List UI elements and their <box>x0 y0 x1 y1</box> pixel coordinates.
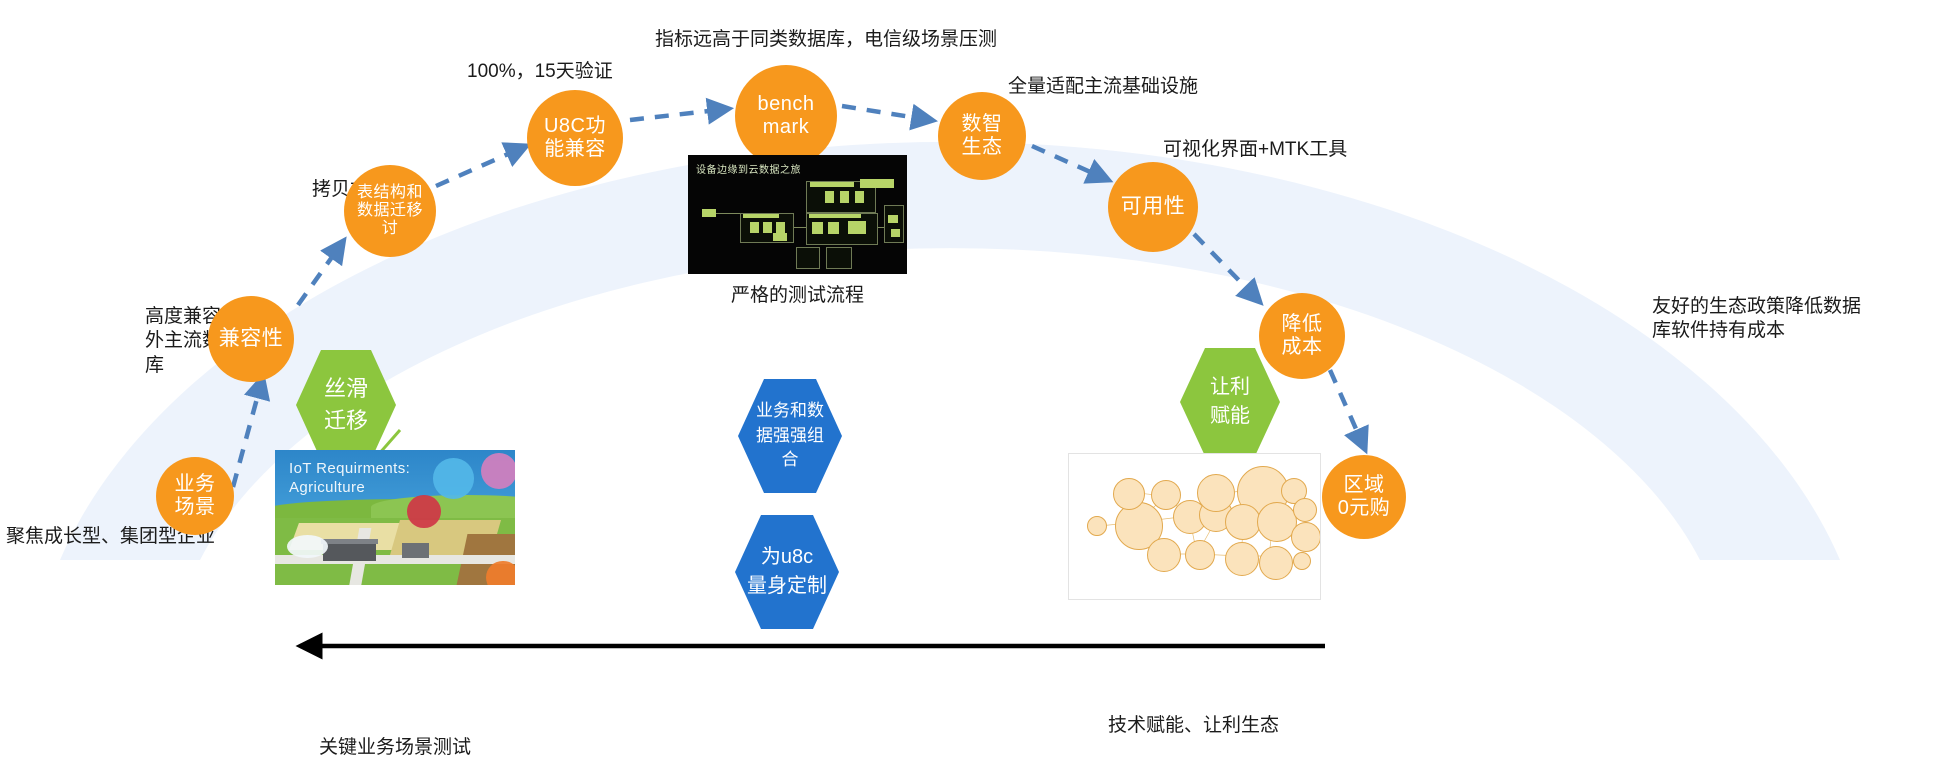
caption-data-journey: 严格的测试流程 <box>688 280 907 307</box>
node-schema-data-migration[interactable]: 表结构和 数据迁移 讨 <box>344 165 436 257</box>
node-business-scenario[interactable]: 业务 场景 <box>156 457 234 535</box>
picture-data-journey: 设备边缘到云数据之旅 <box>688 155 907 274</box>
node-smart-ecosystem[interactable]: 数智 生态 <box>938 92 1026 180</box>
node-region-zero-yuan[interactable]: 区域 0元购 <box>1322 455 1406 539</box>
caption-tech-ecosystem-network: 技术赋能、让利生态 <box>1068 710 1319 737</box>
annotation-metrics-far-higher: 指标远高于同类数据库，电信级场景压测 <box>655 28 997 52</box>
annotation-visual-ui-mtk: 可视化界面+MTK工具 <box>1163 138 1347 162</box>
picture-iot-agriculture-title: IoT Requirments: Agriculture <box>289 460 410 498</box>
hexagon-business-data-combo[interactable]: 业务和数 据强强组 合 <box>738 379 842 493</box>
node-availability[interactable]: 可用性 <box>1108 162 1198 252</box>
annotation-full-adaptation: 全量适配主流基础设施 <box>1008 75 1198 99</box>
node-cost-reduction[interactable]: 降低 成本 <box>1259 293 1345 379</box>
annotation-100-percent-15-days: 100%，15天验证 <box>467 60 613 84</box>
node-benchmark[interactable]: bench mark <box>735 65 837 167</box>
hexagon-smooth-migration[interactable]: 丝滑 迁移 <box>296 350 396 460</box>
diagram-canvas: 聚焦成长型、集团型企业 高度兼容国 外主流数据 库 拷贝式迁移 100%，15天… <box>0 0 1945 782</box>
caption-iot-agriculture: 关键业务场景测试 <box>275 732 515 759</box>
hexagon-tailored-for-u8c[interactable]: 为u8c 量身定制 <box>735 515 839 629</box>
annotation-friendly-eco-policy: 友好的生态政策降低数据 库软件持有成本 <box>1652 295 1861 344</box>
node-u8c-function-compatibility[interactable]: U8C功 能兼容 <box>527 90 623 186</box>
picture-iot-agriculture: IoT Requirments: Agriculture <box>275 450 515 585</box>
hexagon-profit-sharing[interactable]: 让利 赋能 <box>1180 348 1280 456</box>
picture-data-journey-title: 设备边缘到云数据之旅 <box>696 161 801 176</box>
node-compatibility[interactable]: 兼容性 <box>208 296 294 382</box>
picture-tech-ecosystem-network <box>1068 453 1321 600</box>
